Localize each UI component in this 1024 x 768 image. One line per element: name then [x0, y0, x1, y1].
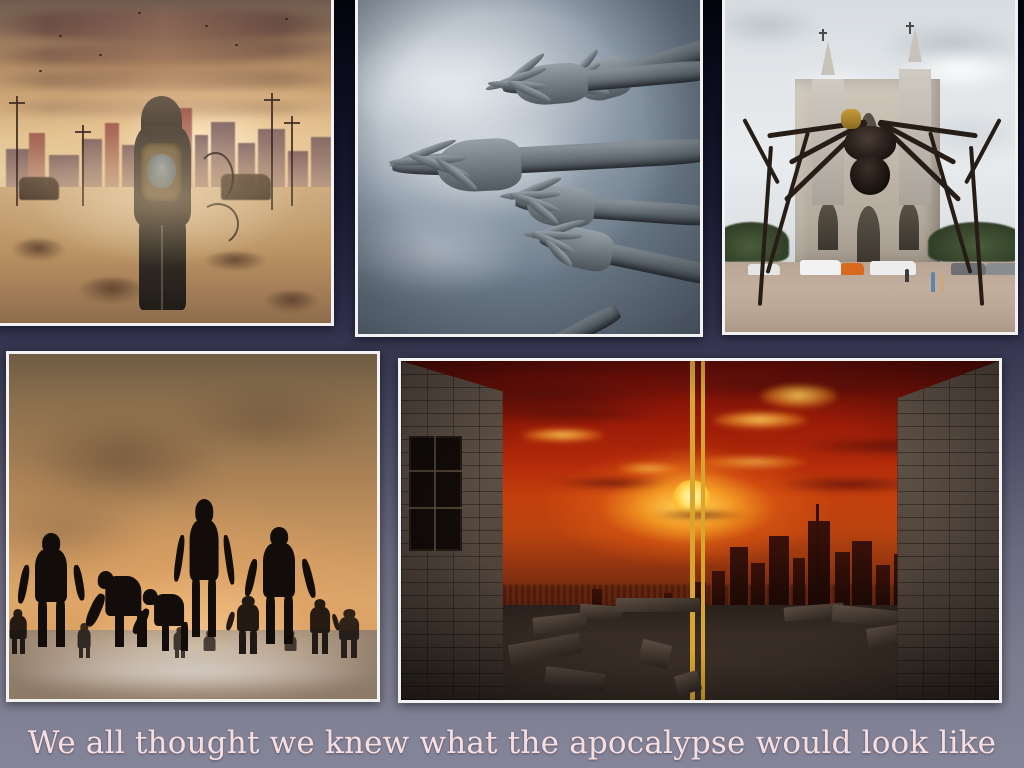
wrecked-vehicle	[19, 177, 59, 200]
cross-icon	[909, 22, 911, 34]
gas-mask-icon	[147, 154, 176, 188]
zombie-silhouette	[75, 623, 93, 658]
broken-window	[409, 436, 462, 551]
photo-survivor-artwork	[0, 0, 331, 323]
utility-pole	[271, 93, 273, 210]
parked-car	[986, 263, 1015, 275]
parked-truck	[870, 261, 916, 275]
zombie-silhouette	[24, 533, 79, 647]
photo-red-sunset-ruins[interactable]	[398, 358, 1002, 703]
spider-egg-sac	[841, 109, 861, 129]
zombie-silhouette	[230, 596, 267, 655]
photo-zombie-hands[interactable]	[355, 0, 703, 337]
photo-giant-spider-cathedral-artwork	[725, 0, 1015, 332]
slide-canvas: We all thought we knew what the apocalyp…	[0, 0, 1024, 768]
pedestrian	[905, 269, 909, 282]
pedestrian	[931, 272, 935, 292]
cloud-band	[0, 9, 331, 41]
photo-giant-spider-cathedral[interactable]	[722, 0, 1018, 335]
zombie-silhouette	[333, 609, 366, 657]
utility-pole	[82, 125, 84, 206]
zombie-silhouette	[303, 599, 336, 654]
zombie-silhouette	[200, 630, 218, 658]
road-centre-line	[690, 361, 694, 700]
ruined-brick-wall-right	[897, 361, 999, 700]
photo-survivor[interactable]	[0, 0, 334, 326]
survivor-figure	[119, 96, 205, 310]
utility-pole	[16, 96, 18, 206]
road-centre-line	[701, 361, 705, 700]
photo-zombie-horde-artwork	[9, 354, 377, 699]
photo-zombie-hands-artwork	[358, 0, 700, 334]
parked-truck	[841, 263, 864, 275]
cloud-band	[0, 70, 331, 89]
pedestrian	[940, 273, 944, 292]
zombie-silhouette	[281, 630, 299, 658]
zombie-silhouette	[9, 609, 31, 654]
slide-caption: We all thought we knew what the apocalyp…	[0, 726, 1024, 760]
photo-zombie-horde[interactable]	[6, 351, 380, 702]
zombie-silhouette	[171, 627, 189, 658]
utility-pole	[291, 116, 293, 207]
parked-van	[800, 260, 841, 275]
ruined-brick-wall-left	[401, 361, 503, 700]
photo-red-sunset-ruins-artwork	[401, 361, 999, 700]
cross-icon	[822, 29, 824, 41]
